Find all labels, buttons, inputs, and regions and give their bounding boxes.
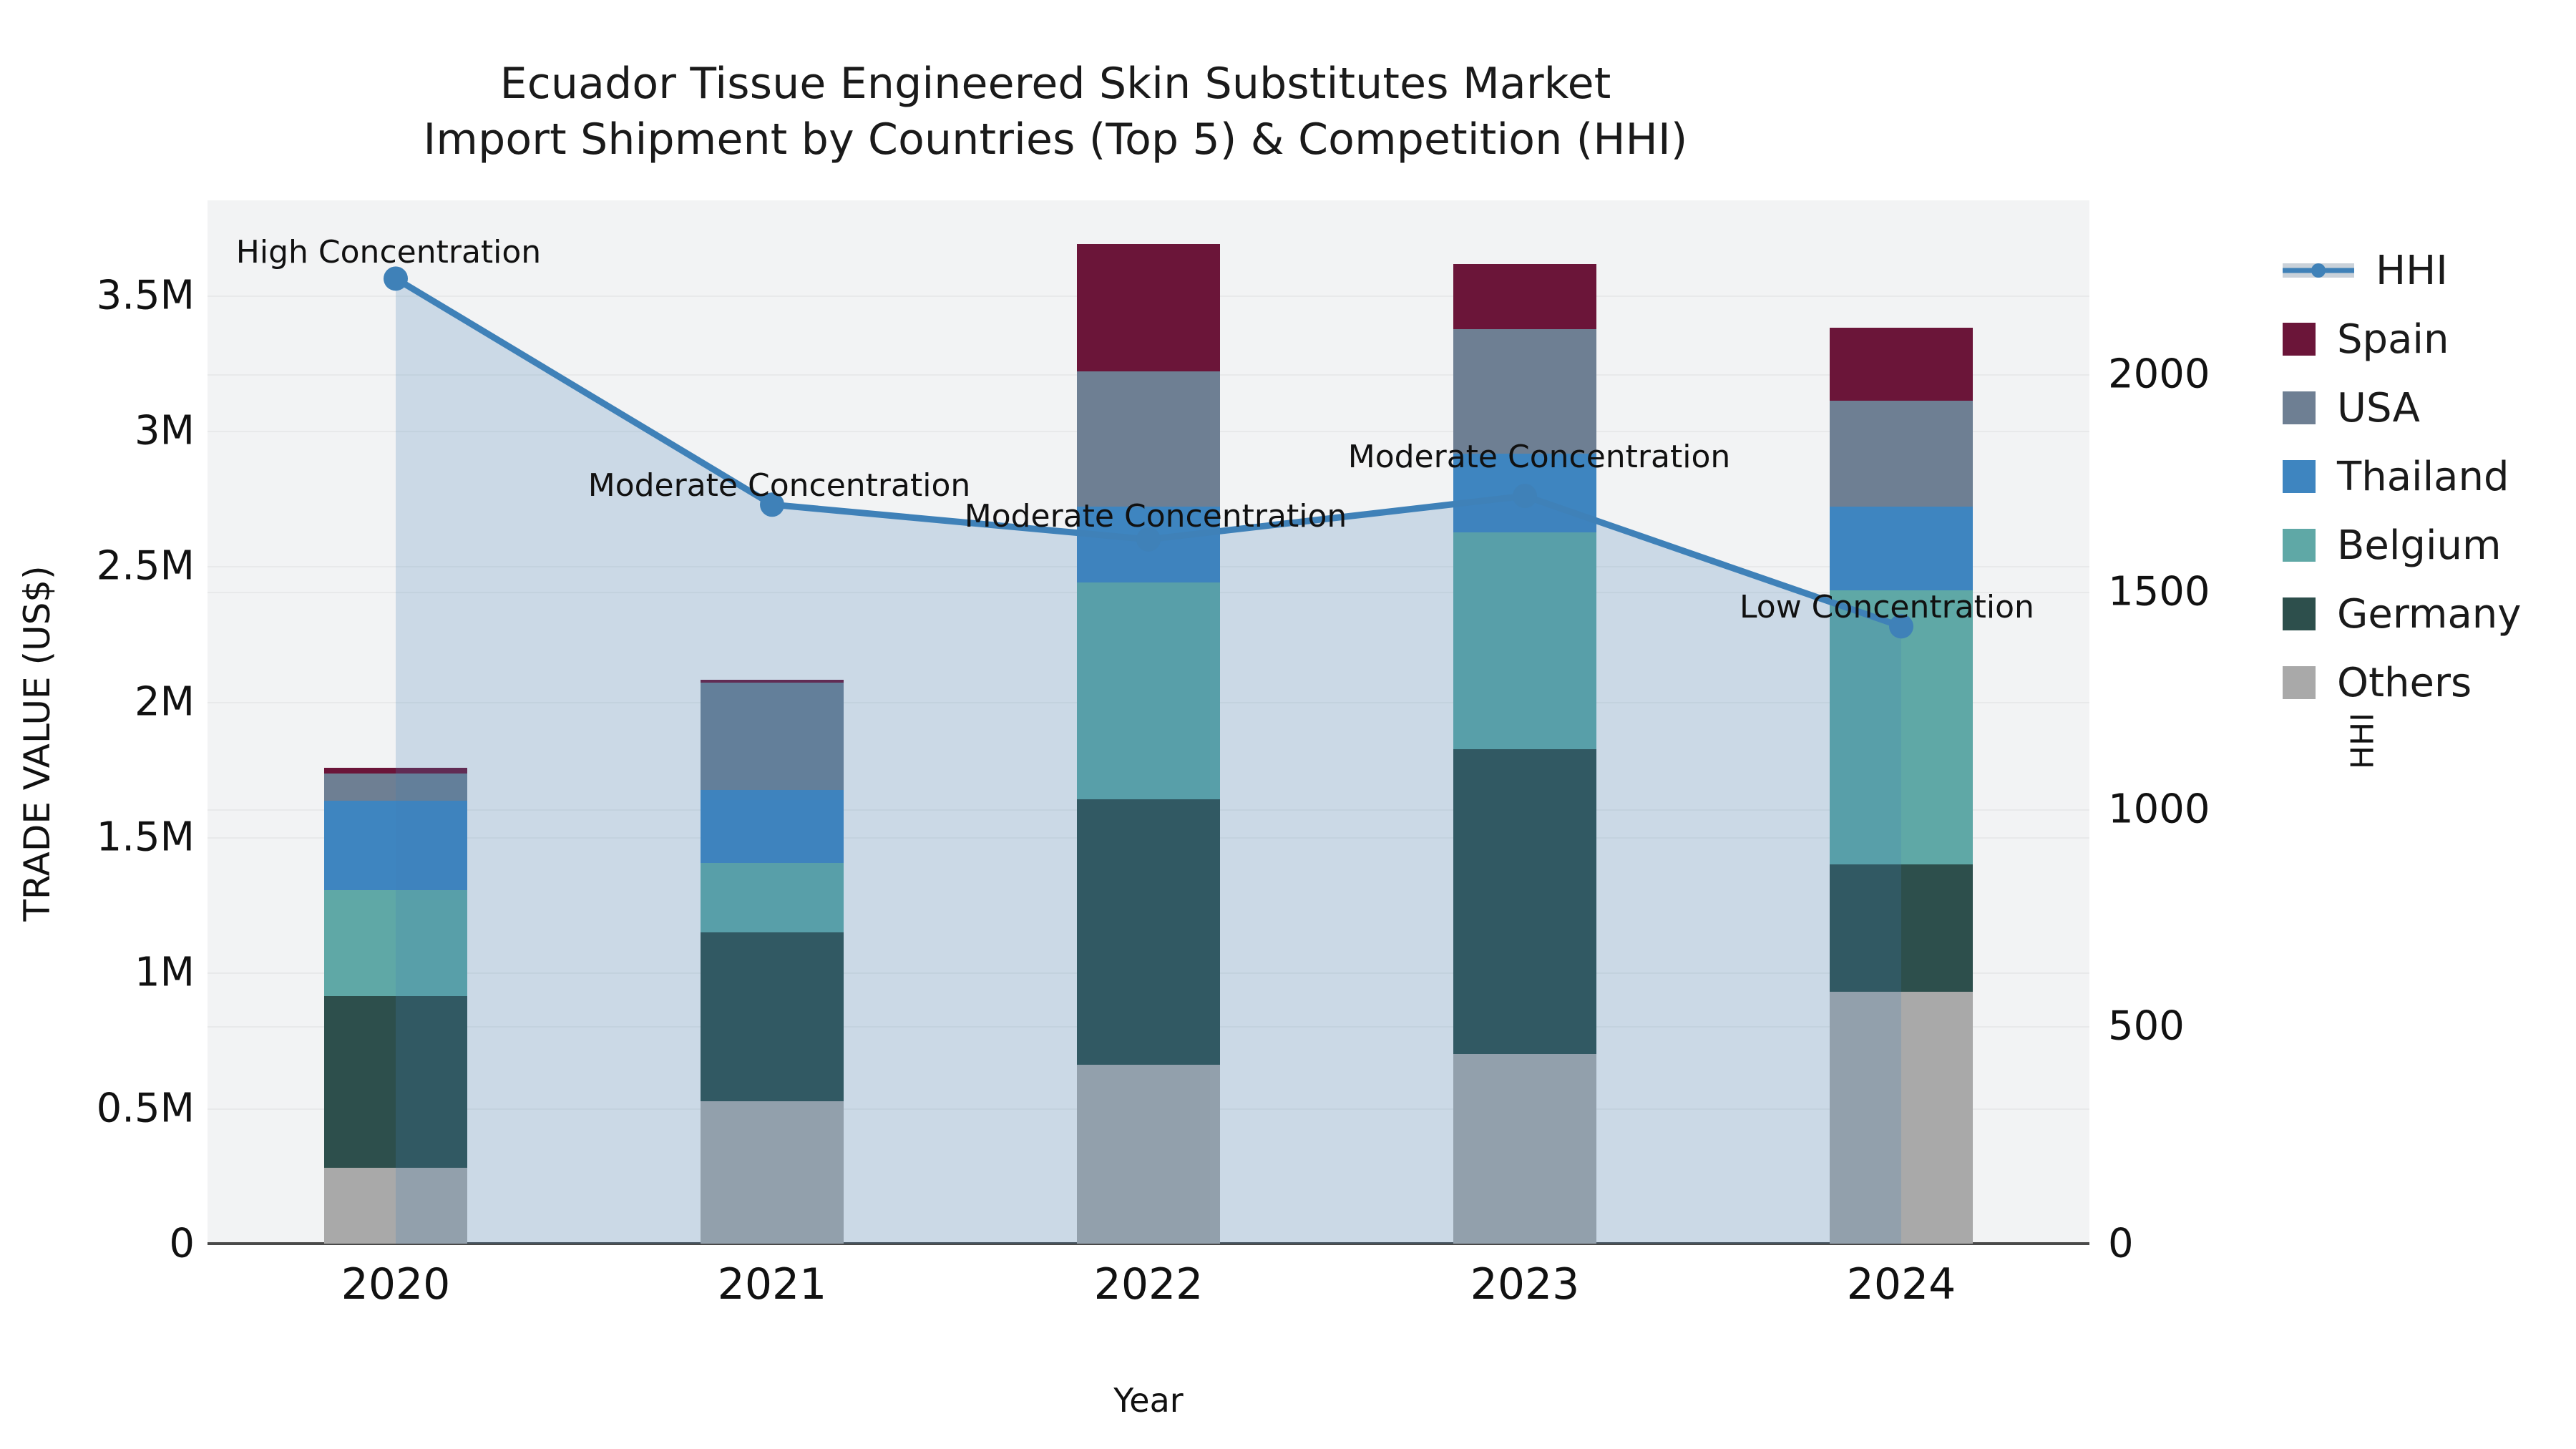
y-axis-left-tick-label: 3.5M [97,272,195,318]
legend-line-marker-icon [2283,254,2354,287]
y-axis-left-tick-label: 1M [135,950,195,996]
legend-label: Belgium [2337,522,2502,569]
legend-swatch-icon [2283,529,2316,562]
y-axis-left-tick-label: 1.5M [97,814,195,860]
legend-label: Germany [2337,591,2521,638]
x-axis-label: Year [208,1381,2089,1420]
y-axis-right-tick-label: 1000 [2108,786,2210,832]
legend-item-belgium[interactable]: Belgium [2283,511,2576,580]
x-axis-tick-label: 2021 [718,1259,827,1309]
legend-item-thailand[interactable]: Thailand [2283,442,2576,511]
x-axis-tick-label: 2024 [1847,1259,1956,1309]
hhi-annotation: Moderate Concentration [965,498,1347,535]
legend-label: HHI [2376,248,2448,294]
y-axis-right-tick-label: 0 [2108,1221,2134,1267]
x-axis-tick-label: 2023 [1470,1259,1580,1309]
y-axis-right-tick-label: 500 [2108,1003,2185,1050]
legend-item-usa[interactable]: USA [2283,374,2576,442]
hhi-annotation: High Concentration [236,234,541,270]
legend-item-others[interactable]: Others [2283,648,2576,717]
hhi-annotation: Moderate Concentration [588,467,971,504]
y-axis-left-tick-label: 3M [135,407,195,454]
hhi-annotation: Low Concentration [1740,589,2034,625]
legend-item-hhi[interactable]: HHI [2283,236,2576,305]
legend-swatch-icon [2283,597,2316,630]
legend-label: Spain [2337,316,2449,363]
y-axis-left-tick-label: 0 [169,1221,195,1267]
legend-item-spain[interactable]: Spain [2283,305,2576,374]
legend-label: Thailand [2337,454,2509,500]
legend-label: USA [2337,385,2420,431]
x-axis-tick-label: 2022 [1094,1259,1204,1309]
legend-swatch-icon [2283,460,2316,493]
legend-swatch-icon [2283,391,2316,424]
legend-swatch-icon [2283,323,2316,356]
hhi-annotation: Moderate Concentration [1348,439,1731,475]
y-axis-left-tick-label: 0.5M [97,1085,195,1131]
y-axis-left-label: TRADE VALUE (US$) [16,543,58,944]
legend: HHISpainUSAThailandBelgiumGermanyOthers [2283,236,2576,717]
legend-label: Others [2337,660,2472,706]
y-axis-right-tick-label: 1500 [2108,568,2210,615]
legend-item-germany[interactable]: Germany [2283,580,2576,648]
y-axis-left-tick-label: 2.5M [97,543,195,590]
chart-canvas: Ecuador Tissue Engineered Skin Substitut… [0,0,2576,1449]
legend-swatch-icon [2283,666,2316,699]
x-axis-tick-label: 2020 [341,1259,451,1309]
y-axis-right-tick-label: 2000 [2108,351,2210,398]
y-axis-left-tick-label: 2M [135,678,195,725]
